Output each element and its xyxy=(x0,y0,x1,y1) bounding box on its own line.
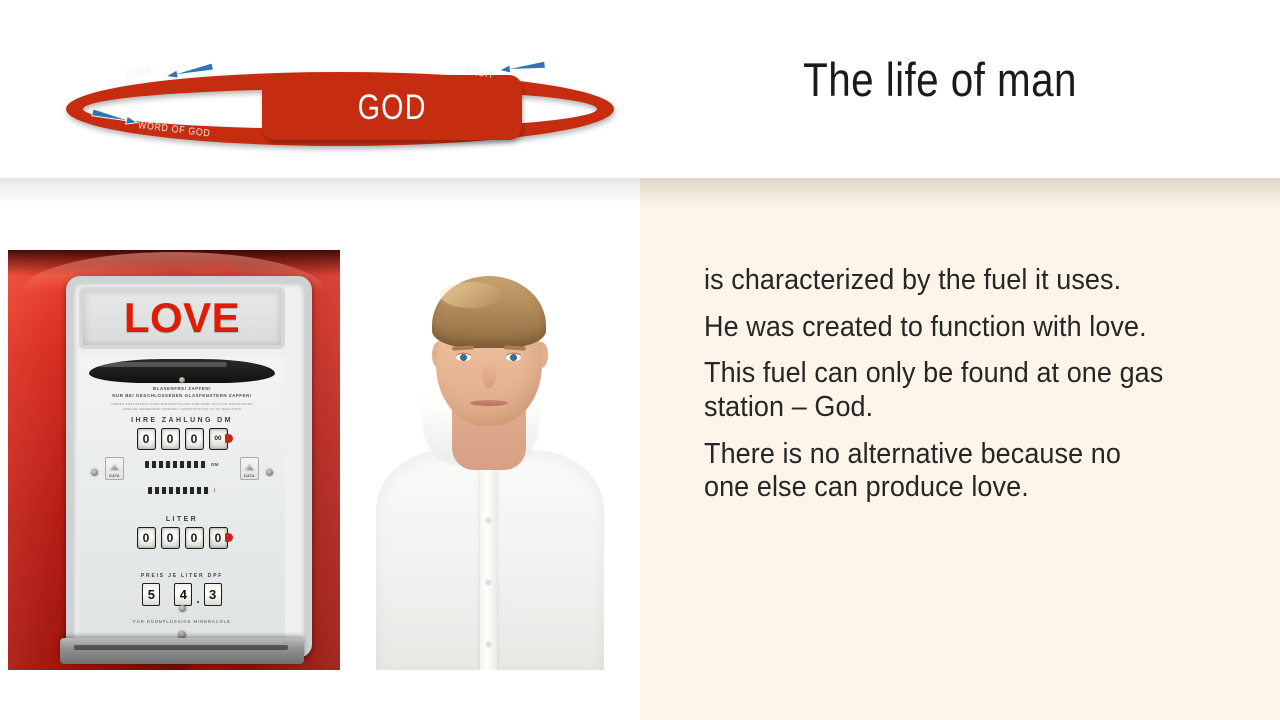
pump-price-label: PREIS JE LITER DPF xyxy=(79,573,285,579)
pump-badge-label: DATA xyxy=(244,474,255,478)
volume-digit: 0 xyxy=(185,527,204,549)
god-center-box: GOD xyxy=(262,75,522,140)
pump-bottom-sill xyxy=(60,638,304,664)
pump-badge-label: DATA xyxy=(109,474,120,478)
pump-fineprint-line-2: ZWECKE VERWENDET WERDEN, VORSCHRIFTEN IS… xyxy=(79,407,285,411)
left-content-pane: LOVE BLASENFREI ZAPFEN! NUR BEI GESCHLOS… xyxy=(0,178,640,720)
payment-digit: 0 xyxy=(137,428,156,450)
body-paragraph: This fuel can only be found at one gas s… xyxy=(704,357,1169,424)
pump-screw xyxy=(266,469,273,476)
man-shirt-placket xyxy=(480,456,497,670)
pump-stripe-bar xyxy=(145,461,207,468)
pump-screw xyxy=(179,605,186,612)
man-portrait-photo xyxy=(340,250,640,670)
payment-digit: 0 xyxy=(185,428,204,450)
pump-unit-liter: l xyxy=(214,488,216,493)
page-title: The life of man xyxy=(682,52,1198,107)
love-sign-text: LOVE xyxy=(124,297,240,339)
god-label: GOD xyxy=(357,88,426,128)
cycle-diagram: GOD LOVE FRUIT WORD OF GOD xyxy=(60,36,620,148)
cycle-label-love: LOVE xyxy=(125,65,152,81)
volume-digit: 0 xyxy=(161,527,180,549)
pump-window-frame: LOVE BLASENFREI ZAPFEN! NUR BEI GESCHLOS… xyxy=(66,276,312,658)
pump-badge-left: DATA xyxy=(105,457,124,480)
body-paragraph: He was created to function with love. xyxy=(704,311,1169,345)
pump-payment-counter: 0 0 0 00 xyxy=(79,428,285,450)
pump-unit-dm: DM xyxy=(211,462,219,467)
man-eye-right xyxy=(506,354,521,361)
body-paragraph: is characterized by the fuel it uses. xyxy=(704,264,1169,298)
pump-notice-line-1: BLASENFREI ZAPFEN! xyxy=(79,386,285,391)
man-eye-left xyxy=(456,354,471,361)
pump-stripe-bar xyxy=(148,487,210,494)
pump-screw xyxy=(91,469,98,476)
pump-notice-line-2: NUR BEI GESCHLOSSENEN GLASFENSTERN ZAPFE… xyxy=(79,393,285,398)
price-digit: 5 xyxy=(142,583,160,606)
price-digit: 3 xyxy=(204,583,222,606)
right-content-pane: is characterized by the fuel it uses. He… xyxy=(640,178,1280,720)
slide-header: GOD LOVE FRUIT WORD OF GOD xyxy=(0,0,1280,178)
pump-badge-right: DATA xyxy=(240,457,259,480)
man-shirt-button xyxy=(486,518,491,523)
pump-volume-label: LITER xyxy=(79,516,285,523)
pump-volume-counter: 0 0 0 0 xyxy=(79,527,285,549)
pump-screw xyxy=(179,377,185,383)
slide-root: GOD LOVE FRUIT WORD OF GOD xyxy=(0,0,1280,720)
gas-pump-photo: LOVE BLASENFREI ZAPFEN! NUR BEI GESCHLOS… xyxy=(8,250,340,670)
volume-last-digit: 0 xyxy=(209,527,228,549)
arrow-left-icon-fruit xyxy=(497,59,548,74)
man-shirt-button xyxy=(486,642,491,647)
volume-digit: 0 xyxy=(137,527,156,549)
price-digit: 4 xyxy=(174,583,192,606)
body-text-block: is characterized by the fuel it uses. He… xyxy=(704,264,1204,505)
pump-fineprint-line-1: DIESES KRAFTSTOFF KANN BLEI ENTHALTEN UN… xyxy=(79,402,285,406)
pump-instrument-panel: BLASENFREI ZAPFEN! NUR BEI GESCHLOSSENEN… xyxy=(79,357,285,639)
love-sign: LOVE xyxy=(79,287,285,349)
price-separator: . xyxy=(196,592,199,606)
man-mouth xyxy=(470,400,508,406)
payment-digit: 0 xyxy=(161,428,180,450)
pump-price-display: 5 4 . 3 xyxy=(79,583,285,606)
body-paragraph: There is no alternative because no one e… xyxy=(704,438,1169,505)
pump-stripe-row-liter: l xyxy=(79,487,285,494)
pump-footer-label: FÜR DÜNNFLÜSSIGE MINERALÖLE xyxy=(79,619,285,624)
payment-fraction-digit: 00 xyxy=(209,428,228,450)
pump-payment-label: IHRE ZAHLUNG DM xyxy=(79,417,285,424)
man-shirt-button xyxy=(486,580,491,585)
man-hair xyxy=(432,276,546,348)
man-nose xyxy=(482,362,496,388)
